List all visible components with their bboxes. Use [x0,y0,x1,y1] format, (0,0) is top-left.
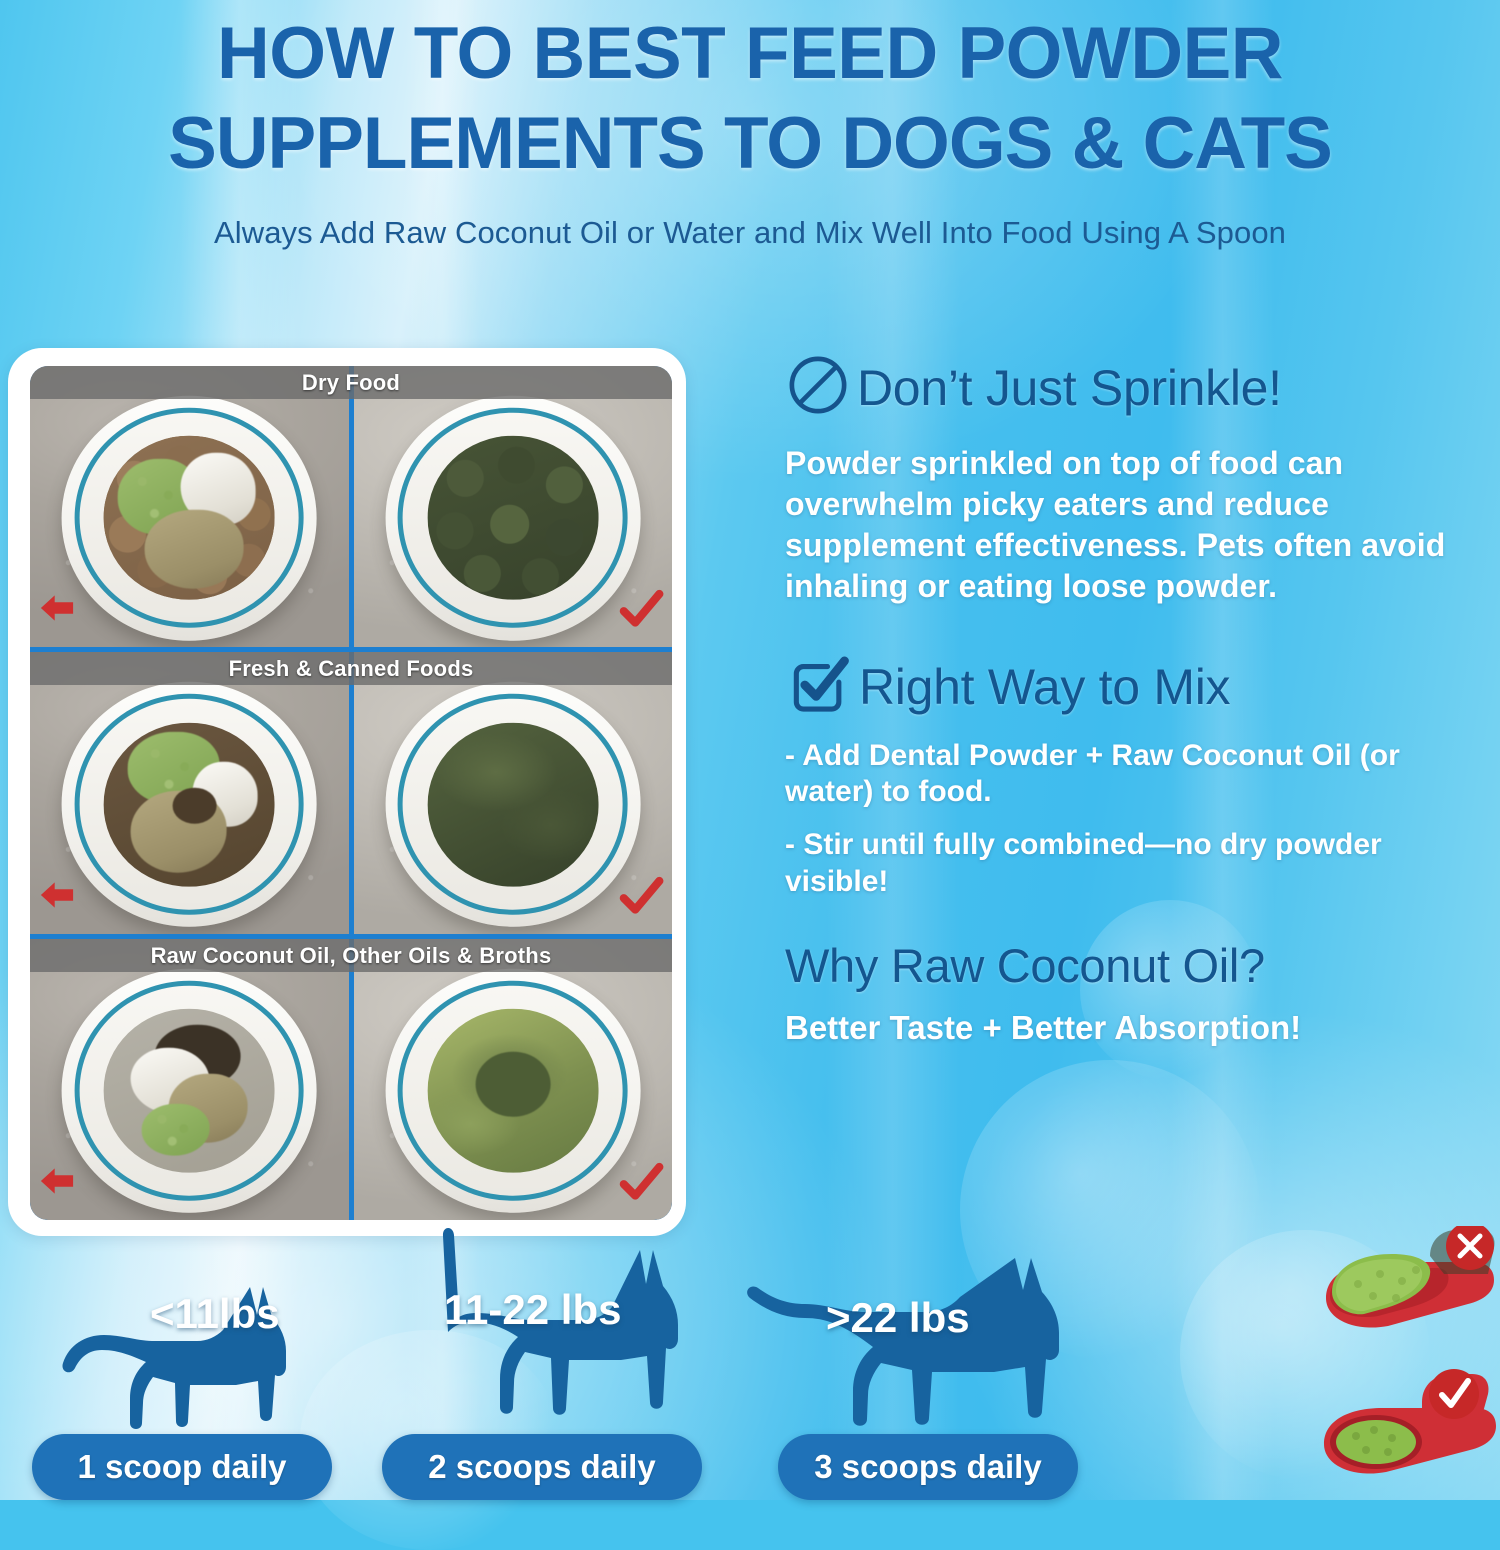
food-chunk [475,1051,550,1117]
tan-powder-pile [145,510,244,589]
section-heading-row: Why Raw Coconut Oil? [785,938,1485,993]
section-title: Right Way to Mix [859,658,1230,716]
bowl-rim [398,694,627,914]
check-badge [1429,1369,1479,1419]
dosage-item-small: <11lbs 1 scoop daily [32,1434,332,1500]
red-x-icon [34,585,80,631]
section-why-coconut-oil: Why Raw Coconut Oil? Better Taste + Bett… [785,938,1485,1047]
dosage-item-large: >22 lbs 3 scoops daily [778,1434,1078,1500]
bowl-interior [427,1009,598,1173]
instructions-column: Don’t Just Sprinkle! Powder sprinkled on… [785,352,1485,1047]
bowl-rim [75,694,304,914]
bowl-rim [75,408,304,628]
title-line-2: SUPPLEMENTS TO DOGS & CATS [60,108,1440,180]
scoop-pill[interactable]: 1 scoop daily [32,1434,332,1500]
header: HOW TO BEST FEED POWDER SUPPLEMENTS TO D… [0,0,1500,251]
section-title: Why Raw Coconut Oil? [785,938,1265,993]
food-bowl [385,968,640,1213]
mixed-wet-food [427,722,598,886]
red-x-icon [34,872,80,918]
section-right-way-to-mix: Right Way to Mix - Add Dental Powder + R… [785,651,1485,900]
photo-row-oils-broths: Raw Coconut Oil, Other Oils & Broths [30,939,672,1220]
food-chunk [172,788,216,824]
mix-steps: - Add Dental Powder + Raw Coconut Oil (o… [785,738,1485,900]
coated-kibble [427,436,598,600]
photo-comparison-card: Dry Food [8,348,686,1236]
bowl-interior [104,722,275,886]
section-heading-row: Don’t Just Sprinkle! [785,352,1485,423]
overfilled-scoop [1318,1226,1500,1356]
dosage-item-medium: 11-22 lbs 2 scoops daily [382,1434,702,1500]
bowl-interior [427,436,598,600]
photo-row-fresh-canned: Fresh & Canned Foods [30,652,672,933]
section-heading-row: Right Way to Mix [785,651,1485,724]
photo-cell-mixed [354,366,673,647]
bowl-interior [427,722,598,886]
red-x-icon [34,1158,80,1204]
mix-step: - Add Dental Powder + Raw Coconut Oil (o… [785,738,1485,811]
section-subtext: Better Taste + Better Absorption! [785,1009,1485,1047]
prohibited-icon [785,352,851,423]
weight-label: <11lbs [150,1290,280,1338]
section-title: Don’t Just Sprinkle! [857,359,1282,417]
photo-cell-unmixed [30,939,349,1220]
bowl-interior [104,436,275,600]
checkbox-checked-icon [785,651,853,724]
photo-cell-mixed [354,652,673,933]
page-title: HOW TO BEST FEED POWDER SUPPLEMENTS TO D… [0,0,1500,179]
red-check-icon [618,587,664,633]
photo-grid: Dry Food [30,366,672,1220]
food-bowl [385,682,640,927]
food-bowl [62,682,317,927]
weight-label: >22 lbs [826,1294,970,1342]
weight-label: 11-22 lbs [444,1286,621,1334]
food-bowl [62,396,317,641]
bowl-rim [398,408,627,628]
level-scoop [1318,1368,1500,1498]
bowl-interior [104,1009,275,1173]
row-label-oils-broths: Raw Coconut Oil, Other Oils & Broths [30,939,672,972]
photo-cell-unmixed [30,652,349,933]
mix-step: - Stir until fully combined—no dry powde… [785,827,1485,900]
scoop-pill[interactable]: 2 scoops daily [382,1434,702,1500]
photo-row-dry-food: Dry Food [30,366,672,647]
dosage-row: <11lbs 1 scoop daily 11-22 lbs 2 scoops … [0,1232,1270,1500]
section-dont-sprinkle: Don’t Just Sprinkle! Powder sprinkled on… [785,352,1485,607]
bowl-rim [398,980,627,1200]
bowl-rim [75,980,304,1200]
red-check-icon [618,874,664,920]
food-bowl [62,968,317,1213]
page-subtitle: Always Add Raw Coconut Oil or Water and … [0,215,1500,251]
food-bowl [385,396,640,641]
row-label-dry-food: Dry Food [30,366,672,399]
photo-cell-unmixed [30,366,349,647]
photo-cell-mixed [354,939,673,1220]
section-body: Powder sprinkled on top of food can over… [785,443,1485,607]
title-line-1: HOW TO BEST FEED POWDER [217,13,1283,94]
scoop-pill[interactable]: 3 scoops daily [778,1434,1078,1500]
row-label-fresh-canned: Fresh & Canned Foods [30,652,672,685]
